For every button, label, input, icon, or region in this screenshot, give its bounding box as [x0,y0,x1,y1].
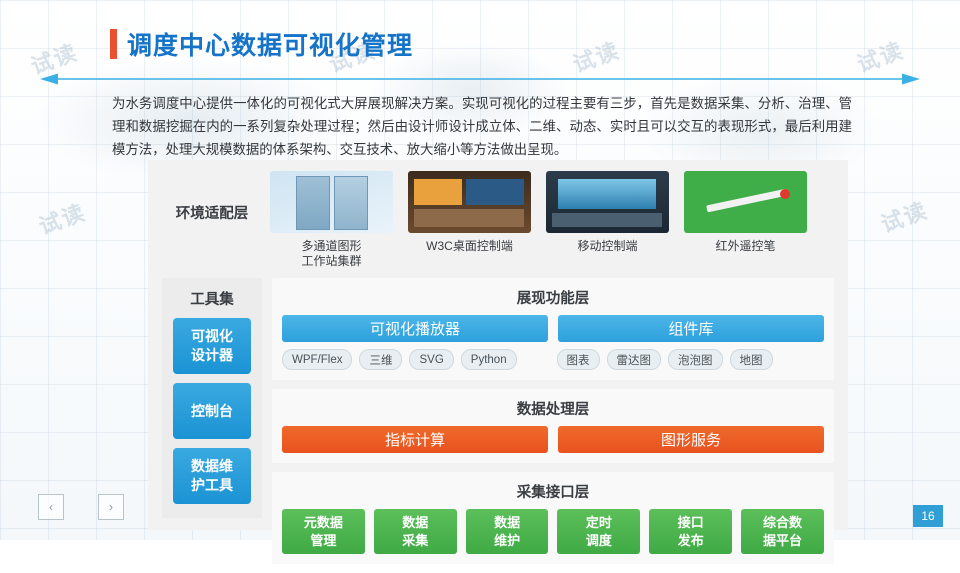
box-metadata-management[interactable]: 元数据 管理 [282,509,365,554]
tool-console-button[interactable]: 控制台 [173,383,251,439]
graphics-service-bar[interactable]: 图形服务 [558,426,824,453]
tool-label-line2: 设计器 [191,346,233,365]
env-adaptation-layer: 环境适配层 多通道图形 工作站集群 W3C桌面控制端 [148,160,848,268]
device-card[interactable]: W3C桌面控制端 [408,171,531,254]
chip-group-left: WPF/Flex 三维 SVG Python [282,349,550,370]
infrared-pen-photo-icon [684,171,807,233]
box-label-line2: 发布 [678,532,704,550]
architecture-diagram: 环境适配层 多通道图形 工作站集群 W3C桌面控制端 [148,160,848,530]
box-label-line2: 管理 [304,532,343,550]
device-caption-line1: 红外遥控笔 [684,239,807,254]
title-accent-bar [110,29,117,59]
data-processing-layer: 数据处理层 指标计算 图形服务 [272,389,834,463]
box-label-line1: 接口 [678,514,704,532]
chip-group-right: 图表 雷达图 泡泡图 地图 [557,349,825,370]
layer-bar-row: 指标计算 图形服务 [282,426,824,453]
layer-title: 数据处理层 [282,398,824,419]
toolset-title: 工具集 [162,278,262,309]
chip-3d[interactable]: 三维 [359,349,402,370]
layer-title: 展现功能层 [282,287,824,308]
toolset-column: 工具集 可视化 设计器 控制台 数据维 护工具 [162,278,262,518]
device-caption: W3C桌面控制端 [408,239,531,254]
collection-box-row: 元数据 管理 数据 采集 数据 维护 [282,509,824,554]
device-caption: 红外遥控笔 [684,239,807,254]
device-caption: 多通道图形 工作站集群 [270,239,393,269]
title-label: 调度中心数据可视化管理 [127,26,413,62]
tool-label-line1: 数据维 [191,457,233,476]
device-caption-line2: 工作站集群 [270,254,393,269]
device-card[interactable]: 红外遥控笔 [684,171,807,254]
layer-bar-row: 可视化播放器 组件库 [282,315,824,342]
collection-interface-layer: 采集接口层 元数据 管理 数据 采集 [272,472,834,564]
layer-chip-row: WPF/Flex 三维 SVG Python 图表 雷达图 泡泡图 地图 [282,349,824,370]
tool-label-line1: 可视化 [191,327,233,346]
device-card[interactable]: 移动控制端 [546,171,669,254]
metric-calculation-bar[interactable]: 指标计算 [282,426,548,453]
mobile-console-photo-icon [546,171,669,233]
chip-map[interactable]: 地图 [730,349,773,370]
next-page-button[interactable]: › [98,494,124,520]
layer-stack: 展现功能层 可视化播放器 组件库 WPF/Flex 三维 SVG Python … [272,278,834,573]
tool-visual-designer-button[interactable]: 可视化 设计器 [173,318,251,374]
prev-page-button[interactable]: ‹ [38,494,64,520]
chip-wpf-flex[interactable]: WPF/Flex [282,349,352,370]
page-title: 调度中心数据可视化管理 [110,26,413,62]
page-number-badge: 16 [913,505,943,527]
chip-radar[interactable]: 雷达图 [607,349,662,370]
box-label-line2: 调度 [586,532,612,550]
divider-double-arrow [40,73,920,85]
box-label-line1: 数据 [494,514,520,532]
box-interface-publish[interactable]: 接口 发布 [649,509,732,554]
box-integrated-data-platform[interactable]: 综合数 据平台 [741,509,824,554]
chip-python[interactable]: Python [461,349,517,370]
device-caption-line1: 移动控制端 [546,239,669,254]
box-label-line1: 元数据 [304,514,343,532]
box-scheduled-dispatch[interactable]: 定时 调度 [557,509,640,554]
device-caption: 移动控制端 [546,239,669,254]
server-rack-photo-icon [270,171,393,233]
box-label-line1: 定时 [586,514,612,532]
device-caption-line1: 多通道图形 [270,239,393,254]
component-library-bar[interactable]: 组件库 [558,315,824,342]
chip-chart[interactable]: 图表 [557,349,600,370]
control-room-photo-icon [408,171,531,233]
chip-bubble[interactable]: 泡泡图 [668,349,723,370]
box-data-maintenance[interactable]: 数据 维护 [466,509,549,554]
device-caption-line1: W3C桌面控制端 [408,239,531,254]
box-data-collection[interactable]: 数据 采集 [374,509,457,554]
tool-label-line2: 护工具 [191,476,233,495]
tool-label-line1: 控制台 [191,402,233,421]
layer-title: 采集接口层 [282,481,824,502]
box-label-line2: 维护 [494,532,520,550]
device-card[interactable]: 多通道图形 工作站集群 [270,171,393,269]
env-layer-label: 环境适配层 [162,202,262,223]
box-label-line2: 采集 [402,532,428,550]
box-label-line2: 据平台 [763,532,802,550]
intro-paragraph: 为水务调度中心提供一体化的可视化式大屏展现解决方案。实现可视化的过程主要有三步，… [112,92,852,161]
chip-svg[interactable]: SVG [409,349,453,370]
box-label-line1: 数据 [402,514,428,532]
box-label-line1: 综合数 [763,514,802,532]
visual-player-bar[interactable]: 可视化播放器 [282,315,548,342]
tool-data-maintenance-button[interactable]: 数据维 护工具 [173,448,251,504]
presentation-layer: 展现功能层 可视化播放器 组件库 WPF/Flex 三维 SVG Python … [272,278,834,380]
